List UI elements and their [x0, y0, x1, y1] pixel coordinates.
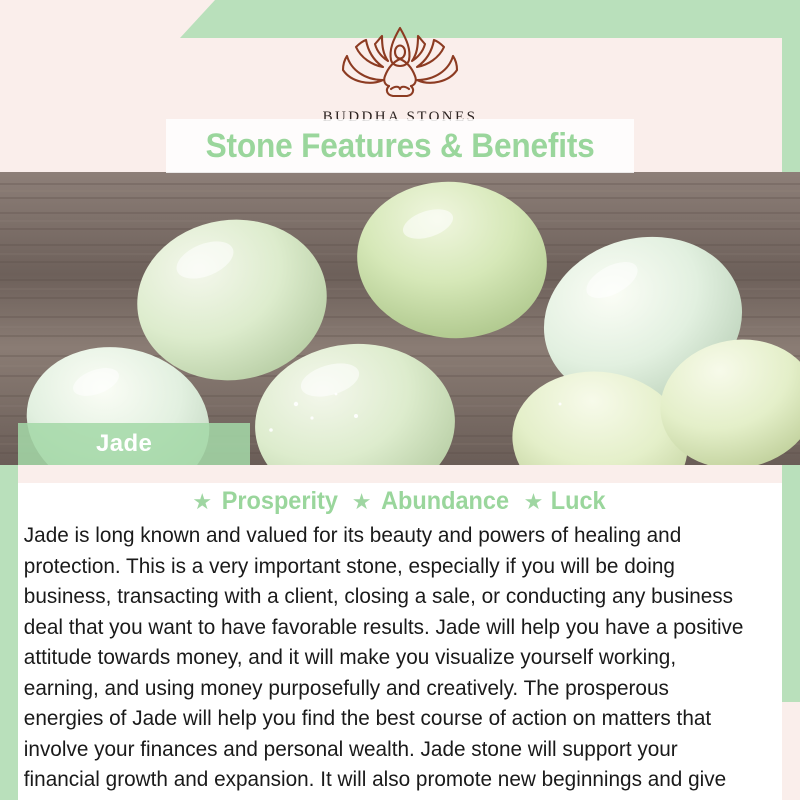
page-title: Stone Features & Benefits — [206, 127, 595, 166]
keyword-label: Abundance — [382, 487, 510, 516]
brand-logo: BUDDHA STONES — [0, 22, 800, 126]
keyword-label: Prosperity — [222, 487, 338, 516]
content-tint-strip — [18, 465, 782, 483]
keyword-item: ★ Luck — [524, 487, 608, 516]
content-panel: ★ Prosperity ★ Abundance ★ Luck Jade is … — [18, 465, 782, 800]
star-icon: ★ — [352, 491, 372, 513]
hero-image — [0, 172, 800, 465]
star-icon: ★ — [524, 491, 544, 513]
keyword-item: ★ Prosperity — [192, 487, 341, 516]
stone-info-card: BUDDHA STONES — [0, 0, 800, 800]
stone-description: Jade is long known and valued for its be… — [18, 518, 755, 800]
lotus-meditation-icon — [0, 22, 800, 105]
keyword-label: Luck — [551, 487, 606, 516]
page-title-banner: Stone Features & Benefits — [166, 119, 634, 173]
stone-name-label: Jade — [96, 430, 152, 458]
star-icon: ★ — [192, 491, 212, 513]
keyword-item: ★ Abundance — [352, 487, 514, 516]
stone-name-badge: Jade — [18, 423, 250, 465]
keyword-list: ★ Prosperity ★ Abundance ★ Luck — [18, 483, 782, 518]
